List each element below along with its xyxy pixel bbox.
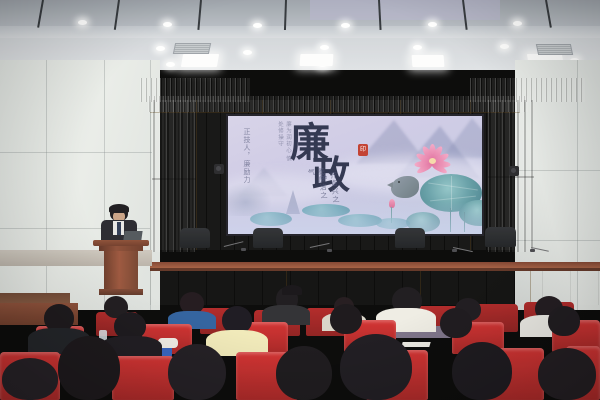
audience-head-foreground bbox=[168, 344, 226, 400]
downlight bbox=[166, 62, 175, 67]
downlight bbox=[341, 23, 350, 28]
ceiling-panel-light bbox=[300, 54, 334, 66]
stage-chair bbox=[180, 228, 210, 248]
audience-head-foreground bbox=[2, 358, 58, 400]
audience-head bbox=[440, 308, 472, 338]
curtain-valance-left bbox=[140, 78, 250, 102]
ac-vent bbox=[536, 44, 573, 55]
table-panel-seam bbox=[530, 271, 531, 305]
seat[interactable] bbox=[112, 356, 174, 400]
curtain-valance-right bbox=[470, 78, 585, 102]
ceiling-purple-reflection bbox=[310, 0, 500, 20]
audience-head bbox=[548, 306, 580, 336]
ac-vent bbox=[173, 43, 211, 54]
audience-head-foreground bbox=[58, 336, 120, 400]
downlight bbox=[156, 46, 165, 51]
auditorium-photo: 正技人，廉励力 廉为润初心 慎处修操守 廉 政 养廉洁之气 齐奋兴之路 印 bbox=[0, 0, 600, 400]
stage-chair bbox=[395, 228, 425, 248]
led-screen[interactable]: 正技人，廉励力 廉为润初心 慎处修操守 廉 政 养廉洁之气 齐奋兴之路 印 bbox=[228, 116, 482, 234]
wall-speaker-right bbox=[509, 166, 519, 176]
wall-seam bbox=[46, 60, 47, 310]
podium-laptop bbox=[123, 231, 142, 240]
wall-speaker-left bbox=[214, 164, 224, 174]
speaker-tie bbox=[117, 222, 121, 235]
speaker-hair bbox=[109, 204, 129, 213]
stage-chair bbox=[485, 227, 516, 247]
audience-head-foreground bbox=[340, 334, 412, 400]
ceiling-panel-light bbox=[412, 55, 445, 67]
ceiling-upper-recess bbox=[0, 0, 600, 26]
podium-base bbox=[99, 289, 143, 295]
downlight bbox=[513, 21, 522, 26]
downlight bbox=[413, 45, 422, 50]
audience-head bbox=[282, 285, 302, 295]
bird-eye bbox=[398, 181, 400, 183]
lotus-flower bbox=[410, 144, 456, 178]
head-table-front-panel bbox=[150, 271, 600, 305]
wood-panel-seam bbox=[150, 112, 520, 113]
microphone-base bbox=[327, 249, 332, 252]
desk-papers bbox=[401, 342, 430, 347]
downlight bbox=[500, 44, 509, 49]
audience-head-foreground bbox=[276, 346, 332, 400]
downlight bbox=[163, 22, 172, 27]
audience-head-foreground bbox=[538, 348, 596, 400]
microphone-base bbox=[530, 249, 535, 252]
downlight bbox=[243, 50, 252, 55]
wall-seam bbox=[0, 152, 152, 153]
red-seal-text: 印 bbox=[359, 145, 367, 155]
downlight bbox=[320, 45, 329, 50]
audience-head-foreground bbox=[452, 342, 512, 400]
curtain-fold-shadow bbox=[152, 178, 196, 180]
curtain-fold-shadow bbox=[488, 176, 534, 178]
stage-chair bbox=[253, 228, 283, 248]
audience-head bbox=[330, 304, 362, 334]
downlight bbox=[253, 23, 262, 28]
bird-beak bbox=[387, 182, 393, 188]
downlight bbox=[428, 22, 437, 27]
ceiling-slab bbox=[0, 26, 600, 38]
downlight bbox=[78, 20, 87, 25]
ceiling-panel-light bbox=[181, 54, 219, 67]
screen-left-column-text: 正技人，廉励力 bbox=[242, 128, 252, 186]
microphone-base bbox=[452, 249, 457, 252]
bird-silhouette bbox=[391, 176, 419, 198]
microphone-base bbox=[241, 248, 246, 251]
podium-body bbox=[104, 251, 138, 289]
